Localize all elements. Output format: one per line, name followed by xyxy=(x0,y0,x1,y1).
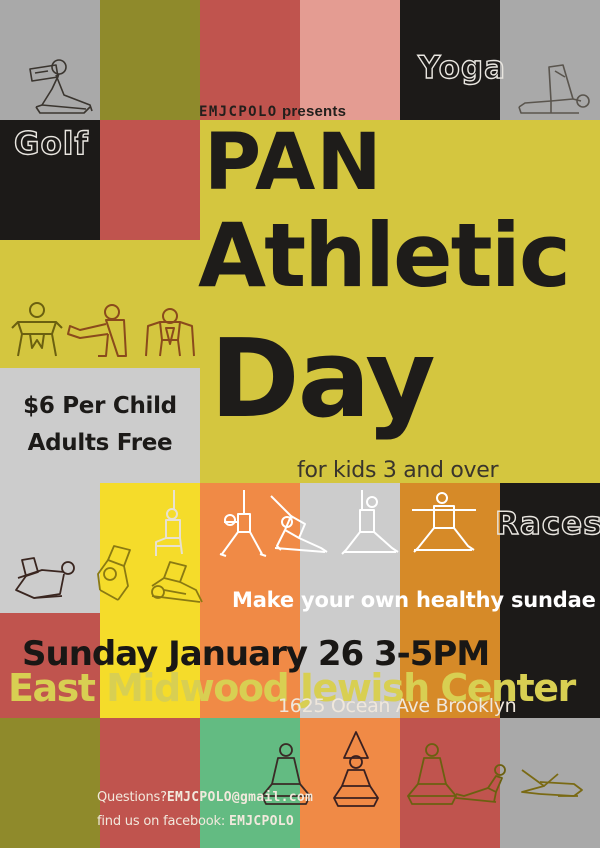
corner-word-golf: Golf xyxy=(14,126,89,162)
footer-facebook-handle: EMJCPOLO xyxy=(229,814,294,829)
footer-facebook-line: find us on facebook: EMJCPOLO xyxy=(97,814,294,829)
venue-address: 1625 Ocean Ave Brooklyn xyxy=(278,695,516,717)
footer-questions-label: Questions? xyxy=(97,790,167,805)
poster: $6 Per Child Adults Free Golf Yoga Races… xyxy=(0,0,600,848)
title-line-pan: PAN xyxy=(204,128,383,200)
title-line-day: Day xyxy=(210,330,434,429)
corner-word-yoga: Yoga xyxy=(418,50,506,86)
footer-contact-line: Questions?EMJCPOLO@gmail.com xyxy=(97,790,313,805)
event-date-time: Sunday January 26 3-5PM xyxy=(22,634,489,674)
age-subtitle: for kids 3 and over xyxy=(297,458,498,483)
corner-word-races: Races xyxy=(495,506,600,542)
footer-facebook-label: find us on facebook: xyxy=(97,814,225,829)
footer-email: EMJCPOLO@gmail.com xyxy=(167,790,313,805)
title-line-athletic: Athletic xyxy=(198,216,569,297)
sundae-tagline: Make your own healthy sundae xyxy=(232,588,596,612)
text-layer: Golf Yoga Races EMJCPOLO presents PAN At… xyxy=(0,0,600,848)
